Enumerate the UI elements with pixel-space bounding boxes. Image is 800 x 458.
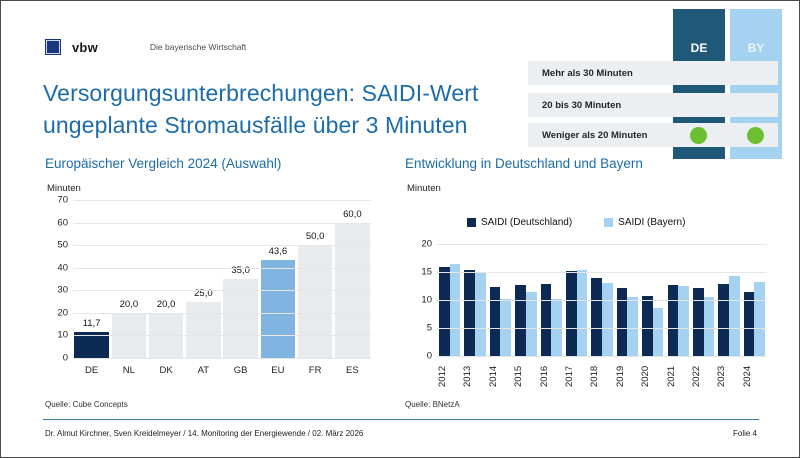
slide: vbw Die bayerische Wirtschaft Versorgung… bbox=[0, 0, 800, 458]
right-chart-x-tick: 2018 bbox=[589, 359, 614, 393]
right-chart-bar bbox=[526, 292, 537, 356]
left-chart-gridline: 70 bbox=[73, 200, 371, 201]
status-legend-table: DE BY Mehr als 30 Minuten 20 bis 30 Minu… bbox=[528, 9, 778, 159]
right-chart-legend-swatch bbox=[467, 218, 476, 227]
right-chart-legend-swatch bbox=[604, 218, 613, 227]
right-chart-x-tick: 2024 bbox=[742, 359, 767, 393]
legend-row: Mehr als 30 Minuten bbox=[528, 61, 778, 85]
right-chart-y-tick: 5 bbox=[427, 323, 432, 334]
left-chart-bar-group: 60,0 bbox=[335, 200, 370, 358]
left-chart-bar-value: 50,0 bbox=[306, 231, 325, 242]
left-chart-bar-value: 35,0 bbox=[231, 265, 250, 276]
right-chart-bar bbox=[668, 285, 679, 356]
right-section-heading: Entwicklung in Deutschland und Bayern bbox=[405, 156, 643, 171]
left-chart-bar-group: 35,0 bbox=[223, 200, 258, 358]
left-chart-y-tick: 50 bbox=[57, 240, 68, 251]
page-title-line1: Versorgungsunterbrechungen: SAIDI-Wert bbox=[43, 77, 563, 109]
right-chart-bar bbox=[704, 297, 715, 356]
right-chart-plot-area: 05101520 bbox=[437, 245, 767, 357]
legend-row: Weniger als 20 Minuten bbox=[528, 123, 778, 147]
left-chart-x-tick: ES bbox=[335, 365, 370, 376]
right-chart-bar bbox=[541, 284, 552, 356]
right-chart-bar bbox=[744, 292, 755, 356]
left-chart-bar bbox=[298, 245, 333, 358]
right-chart-x-tick: 2017 bbox=[564, 359, 589, 393]
left-chart-x-labels: DENLDKATGBEUFRES bbox=[73, 365, 371, 376]
right-chart-gridline: 15 bbox=[437, 272, 767, 273]
legend-row-label: Weniger als 20 Minuten bbox=[528, 130, 647, 141]
right-chart-x-tick: 2019 bbox=[615, 359, 640, 393]
right-chart-x-tick: 2022 bbox=[691, 359, 716, 393]
page-title-line2: ungeplante Stromausfälle über 3 Minuten bbox=[43, 109, 563, 141]
right-chart-x-tick: 2020 bbox=[640, 359, 665, 393]
left-chart-y-tick: 10 bbox=[57, 330, 68, 341]
right-chart-x-labels: 2012201320142015201620172018201920202021… bbox=[437, 359, 767, 393]
right-chart-source: Quelle: BNetzA bbox=[405, 400, 460, 409]
left-chart-bar-group: 11,7 bbox=[74, 200, 109, 358]
left-chart-plot-area: 11,720,020,025,035,043,650,060,0 0102030… bbox=[73, 201, 371, 359]
left-chart-bar-group: 43,6 bbox=[261, 200, 296, 358]
right-chart-x-tick: 2021 bbox=[666, 359, 691, 393]
right-chart-gridline: 0 bbox=[437, 356, 767, 357]
left-chart-x-tick: DE bbox=[74, 365, 109, 376]
right-chart-bar bbox=[653, 308, 664, 356]
left-chart-gridline: 10 bbox=[73, 335, 371, 336]
right-chart-bar bbox=[464, 270, 475, 356]
right-chart-x-tick: 2023 bbox=[716, 359, 741, 393]
slide-number: Folie 4 bbox=[733, 429, 757, 438]
legend-column-header-de: DE bbox=[673, 41, 725, 55]
left-chart-gridline: 60 bbox=[73, 223, 371, 224]
left-chart-y-tick: 20 bbox=[57, 307, 68, 318]
legend-row: 20 bis 30 Minuten bbox=[528, 93, 778, 117]
left-chart-y-tick: 30 bbox=[57, 285, 68, 296]
chart-european-comparison: Minuten 11,720,020,025,035,043,650,060,0… bbox=[43, 183, 378, 393]
status-dot-de-icon bbox=[690, 127, 707, 144]
left-chart-bar-group: 50,0 bbox=[298, 200, 333, 358]
right-chart-y-tick: 10 bbox=[421, 295, 432, 306]
left-chart-bar-value: 43,6 bbox=[269, 246, 288, 257]
left-chart-bar bbox=[186, 302, 221, 358]
left-chart-y-tick: 70 bbox=[57, 195, 68, 206]
status-dot-by-icon bbox=[747, 127, 764, 144]
right-chart-bar bbox=[729, 276, 740, 356]
vbw-logo-icon bbox=[45, 39, 61, 55]
right-chart-bar bbox=[439, 267, 450, 356]
left-chart-x-tick: AT bbox=[186, 365, 221, 376]
left-chart-gridline: 50 bbox=[73, 245, 371, 246]
right-chart-x-tick: 2012 bbox=[437, 359, 462, 393]
right-chart-y-tick: 20 bbox=[421, 239, 432, 250]
left-chart-bar-group: 20,0 bbox=[149, 200, 184, 358]
right-chart-x-tick: 2014 bbox=[488, 359, 513, 393]
legend-column-header-by: BY bbox=[730, 41, 782, 55]
right-chart-bar bbox=[617, 288, 628, 356]
right-chart-x-tick: 2016 bbox=[539, 359, 564, 393]
right-chart-bar bbox=[627, 297, 638, 356]
right-chart-legend: SAIDI (Deutschland)SAIDI (Bayern) bbox=[467, 217, 685, 228]
right-chart-bar bbox=[642, 296, 653, 356]
brand-claim: Die bayerische Wirtschaft bbox=[150, 42, 246, 52]
chart-germany-bavaria: Minuten SAIDI (Deutschland)SAIDI (Bayern… bbox=[405, 183, 785, 393]
right-chart-bar bbox=[515, 285, 526, 356]
left-chart-x-tick: FR bbox=[298, 365, 333, 376]
legend-row-label: 20 bis 30 Minuten bbox=[528, 100, 621, 111]
right-chart-gridline: 20 bbox=[437, 244, 767, 245]
right-chart-x-tick: 2013 bbox=[462, 359, 487, 393]
left-chart-source: Quelle: Cube Concepts bbox=[45, 400, 128, 409]
left-chart-x-tick: GB bbox=[223, 365, 258, 376]
left-chart-bars: 11,720,020,025,035,043,650,060,0 bbox=[73, 200, 371, 358]
right-chart-gridline: 10 bbox=[437, 300, 767, 301]
left-chart-x-tick: EU bbox=[261, 365, 296, 376]
right-chart-bar bbox=[754, 282, 765, 356]
footer-divider bbox=[43, 419, 759, 420]
left-chart-bar-value: 60,0 bbox=[343, 209, 362, 220]
page-title: Versorgungsunterbrechungen: SAIDI-Wert u… bbox=[43, 77, 563, 141]
right-chart-legend-label: SAIDI (Deutschland) bbox=[481, 217, 572, 228]
brand-logo: vbw Die bayerische Wirtschaft bbox=[45, 39, 246, 55]
left-chart-gridline: 40 bbox=[73, 268, 371, 269]
left-chart-bar-group: 20,0 bbox=[112, 200, 147, 358]
right-chart-bar bbox=[450, 264, 461, 356]
right-chart-bar bbox=[591, 278, 602, 356]
left-chart-y-axis-label: Minuten bbox=[47, 183, 81, 194]
left-chart-y-tick: 40 bbox=[57, 262, 68, 273]
left-chart-y-tick: 60 bbox=[57, 217, 68, 228]
left-chart-x-tick: NL bbox=[112, 365, 147, 376]
left-chart-gridline: 30 bbox=[73, 290, 371, 291]
right-chart-gridline: 5 bbox=[437, 328, 767, 329]
right-chart-legend-item: SAIDI (Deutschland) bbox=[467, 217, 572, 228]
left-chart-bar-group: 25,0 bbox=[186, 200, 221, 358]
left-chart-gridline: 0 bbox=[73, 358, 371, 359]
left-section-heading: Europäischer Vergleich 2024 (Auswahl) bbox=[45, 156, 281, 171]
left-chart-bar-value: 11,7 bbox=[83, 318, 101, 329]
right-chart-bar bbox=[490, 287, 501, 356]
left-chart-bar-value: 20,0 bbox=[157, 299, 176, 310]
right-chart-legend-label: SAIDI (Bayern) bbox=[618, 217, 685, 228]
right-chart-legend-item: SAIDI (Bayern) bbox=[604, 217, 685, 228]
right-chart-bar bbox=[678, 286, 689, 356]
left-chart-y-tick: 0 bbox=[63, 353, 68, 364]
right-chart-bar bbox=[577, 270, 588, 356]
right-chart-bar bbox=[566, 271, 577, 356]
left-chart-x-tick: DK bbox=[149, 365, 184, 376]
brand-wordmark: vbw bbox=[72, 40, 98, 55]
right-chart-y-tick: 15 bbox=[421, 267, 432, 278]
right-chart-bar bbox=[475, 272, 486, 356]
right-chart-y-axis-label: Minuten bbox=[407, 183, 441, 194]
right-chart-bar bbox=[602, 283, 613, 356]
left-chart-bar-value: 20,0 bbox=[120, 299, 139, 310]
legend-row-label: Mehr als 30 Minuten bbox=[528, 68, 633, 79]
right-chart-bar bbox=[693, 288, 704, 356]
right-chart-x-tick: 2015 bbox=[513, 359, 538, 393]
right-chart-bar bbox=[718, 284, 729, 356]
right-chart-y-tick: 0 bbox=[427, 351, 432, 362]
left-chart-bar-value: 25,0 bbox=[194, 288, 213, 299]
footer-text: Dr. Almut Kirchner, Sven Kreidelmeyer / … bbox=[45, 429, 363, 438]
left-chart-gridline: 20 bbox=[73, 313, 371, 314]
left-chart-bar bbox=[261, 260, 296, 358]
